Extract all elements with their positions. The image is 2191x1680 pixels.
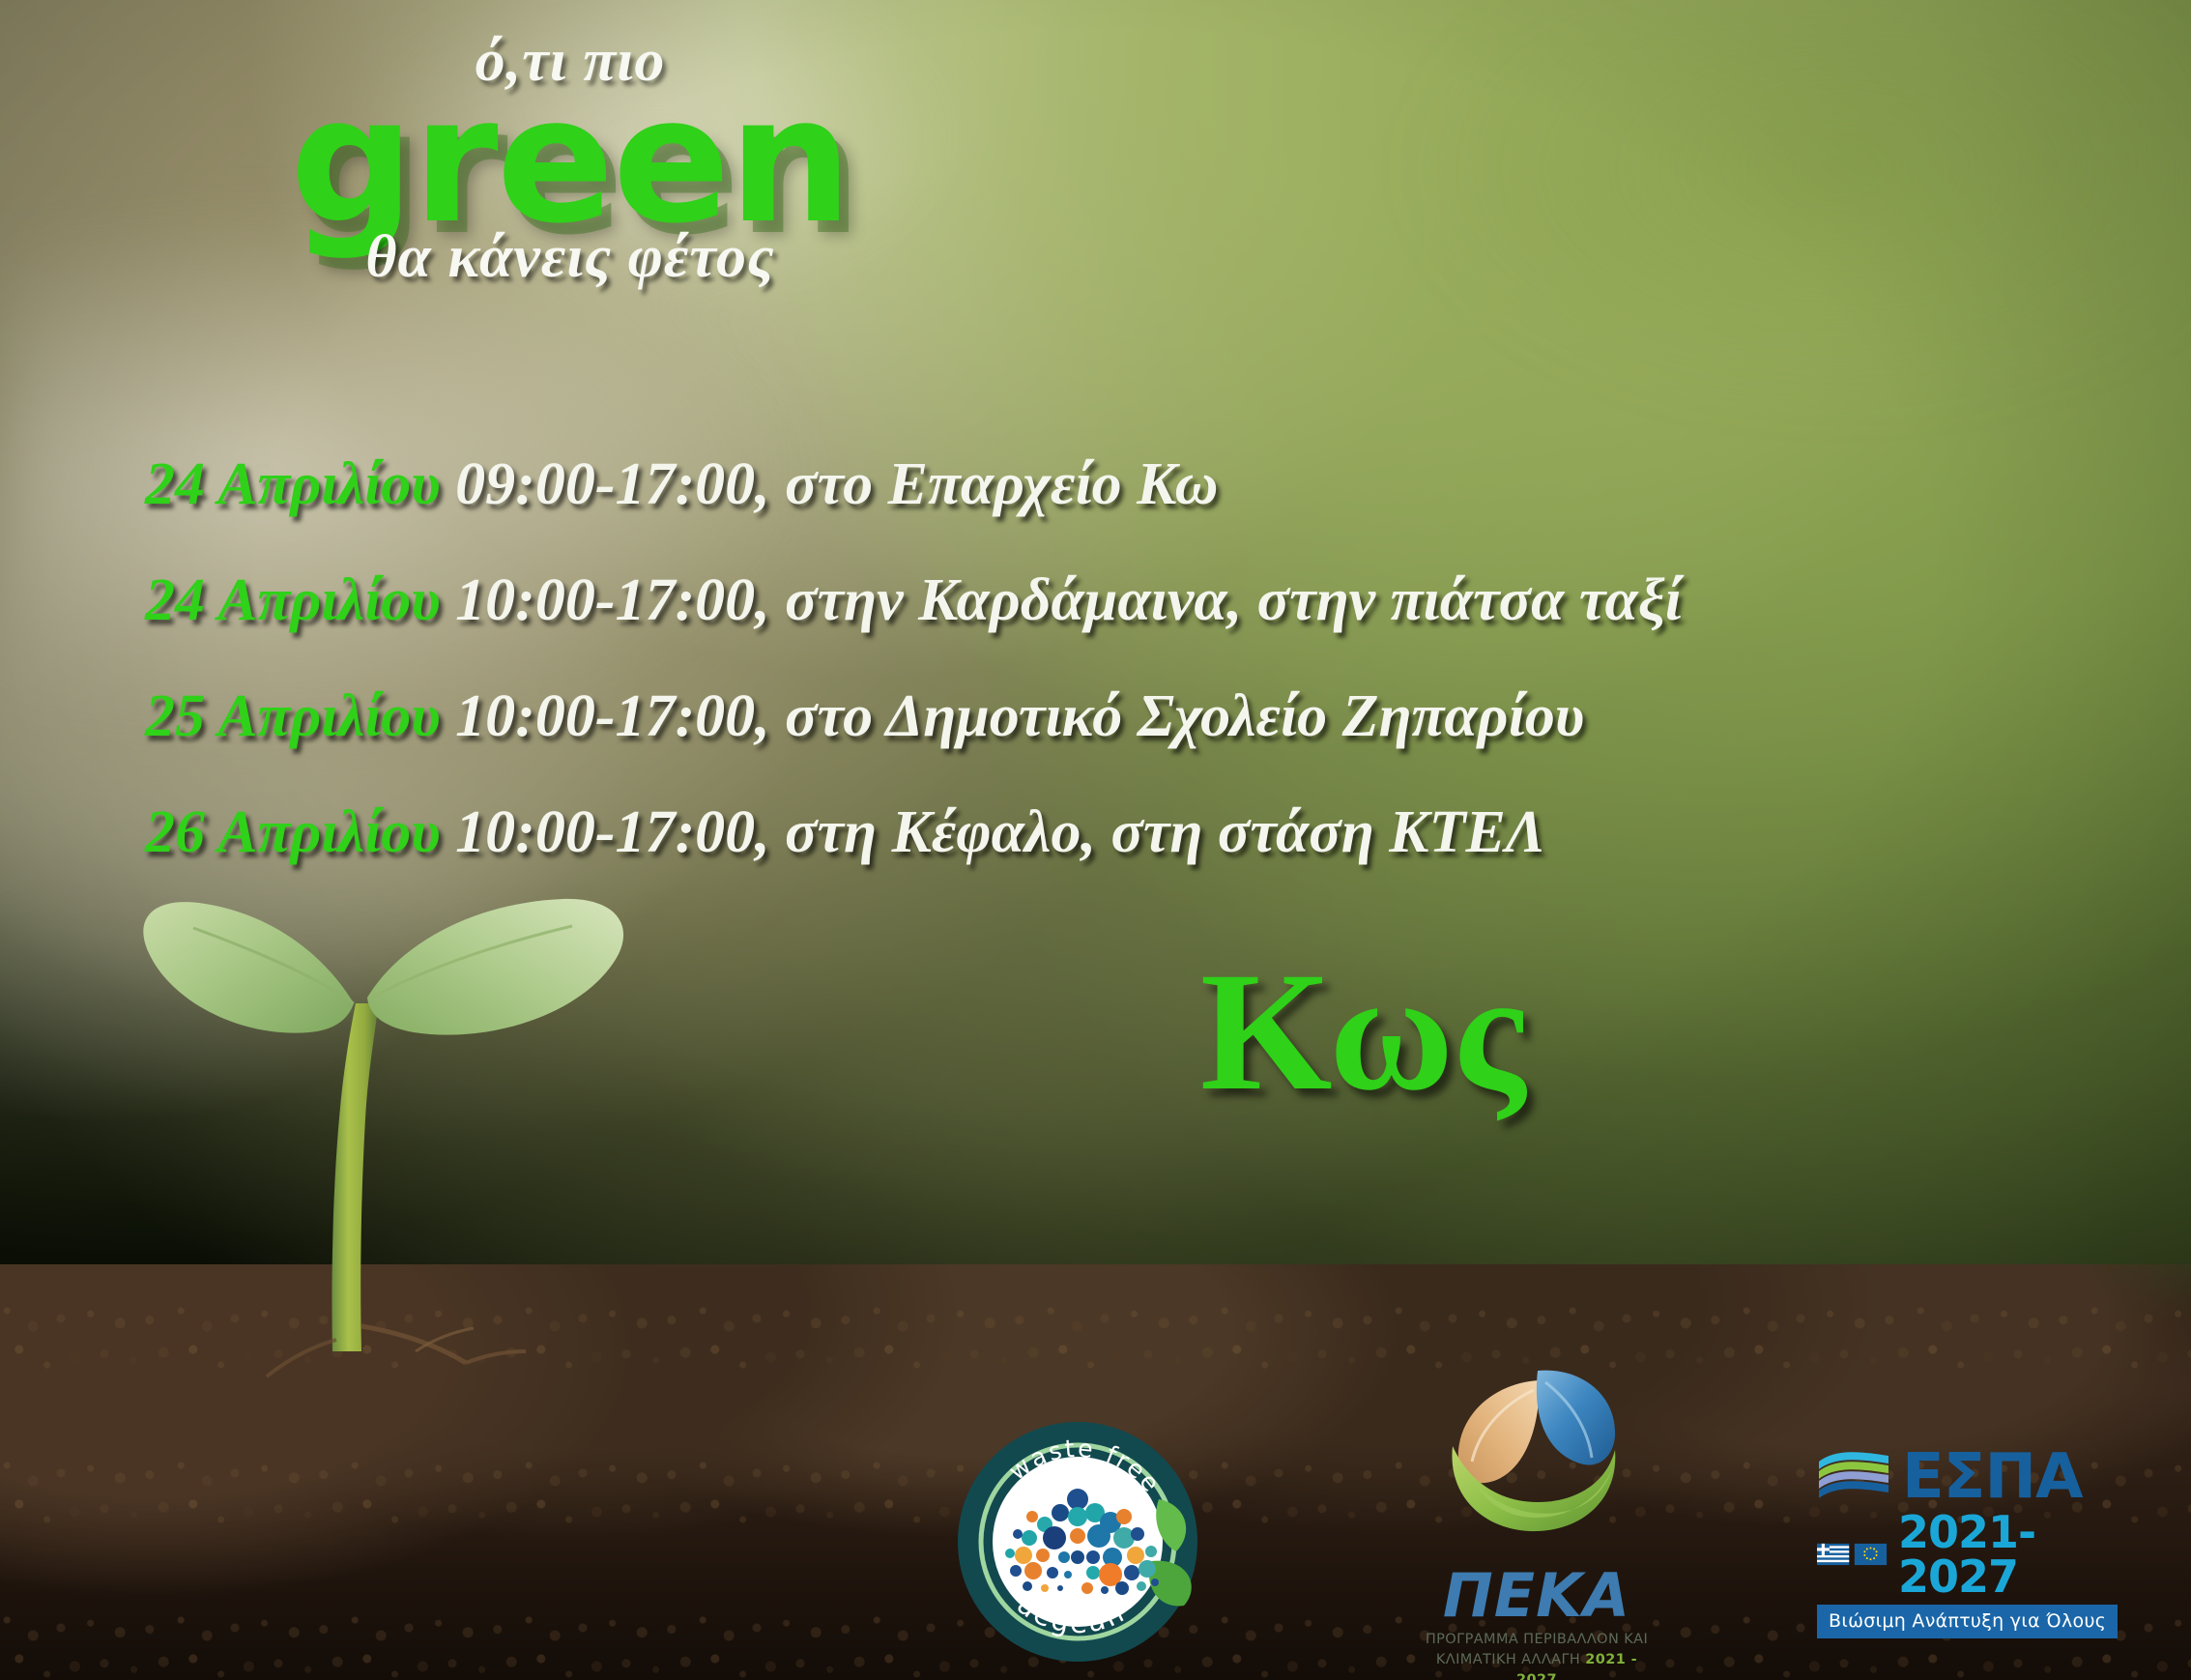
peka-subtitle-line2: ΚΛΙΜΑΤΙΚΗ ΑΛΛΑΓΗ	[1436, 1652, 1580, 1667]
waste-free-aegean-logo: waste free aegean	[952, 1416, 1203, 1667]
island-name: Κως	[1092, 947, 1633, 1117]
espa-years: 2021-2027	[1898, 1510, 2136, 1599]
peka-logo: ΠΕΚΑ ΠΡΟΓΡΑΜΜΑ ΠΕΡΙΒΑΛΛΟΝ ΚΑΙ ΚΛΙΜΑΤΙΚΗ …	[1416, 1353, 1658, 1672]
headline-bottom-line: θα κάνεις φέτος	[0, 223, 1140, 292]
schedule-details: 09:00-17:00, στο Επαρχείο Κω	[455, 451, 1218, 517]
espa-logo: ΕΣΠΑ	[1817, 1450, 2136, 1624]
schedule-date: 25 Απριλίου	[145, 683, 441, 749]
schedule-date: 26 Απριλίου	[145, 799, 441, 865]
espa-tagline: Βιώσιμη Ανάπτυξη για Όλους	[1817, 1605, 2118, 1638]
schedule-date: 24 Απριλίου	[145, 451, 441, 517]
flags-icon	[1817, 1541, 1888, 1568]
schedule-row: 24 Απριλίου 10:00-17:00, στην Καρδάμαινα…	[145, 570, 2146, 630]
schedule-row: 25 Απριλίου 10:00-17:00, στο Δημοτικό Σχ…	[145, 686, 2146, 746]
peka-emblem	[1416, 1353, 1658, 1561]
poster-canvas: ό,τι πιο green θα κάνεις φέτος 24 Απριλί…	[0, 0, 2191, 1680]
peka-subtitle: ΠΡΟΓΡΑΜΜΑ ΠΕΡΙΒΑΛΛΟΝ ΚΑΙ ΚΛΙΜΑΤΙΚΗ ΑΛΛΑΓ…	[1416, 1630, 1658, 1680]
schedule-details: 10:00-17:00, στη Κέφαλο, στη στάση ΚΤΕΛ	[455, 799, 1545, 865]
schedule-details: 10:00-17:00, στην Καρδάμαινα, στην πιάτσ…	[455, 567, 1682, 633]
schedule-row: 26 Απριλίου 10:00-17:00, στη Κέφαλο, στη…	[145, 802, 2146, 862]
headline-green-word: green	[0, 90, 1140, 233]
peka-wordmark: ΠΕΚΑ	[1416, 1566, 1658, 1626]
schedule-date: 24 Απριλίου	[145, 567, 441, 633]
peka-subtitle-line1: ΠΡΟΓΡΑΜΜΑ ΠΕΡΙΒΑΛΛΟΝ ΚΑΙ	[1416, 1630, 1658, 1650]
schedule-details: 10:00-17:00, στο Δημοτικό Σχολείο Ζηπαρί…	[455, 683, 1584, 749]
espa-wordmark: ΕΣΠΑ	[1902, 1450, 2083, 1506]
espa-waves-icon	[1817, 1450, 1892, 1500]
headline-block: ό,τι πιο green θα κάνεις φέτος	[0, 27, 1140, 292]
schedule-row: 24 Απριλίου 09:00-17:00, στο Επαρχείο Κω	[145, 454, 2146, 514]
schedule-list: 24 Απριλίου 09:00-17:00, στο Επαρχείο Κω…	[145, 454, 2146, 918]
